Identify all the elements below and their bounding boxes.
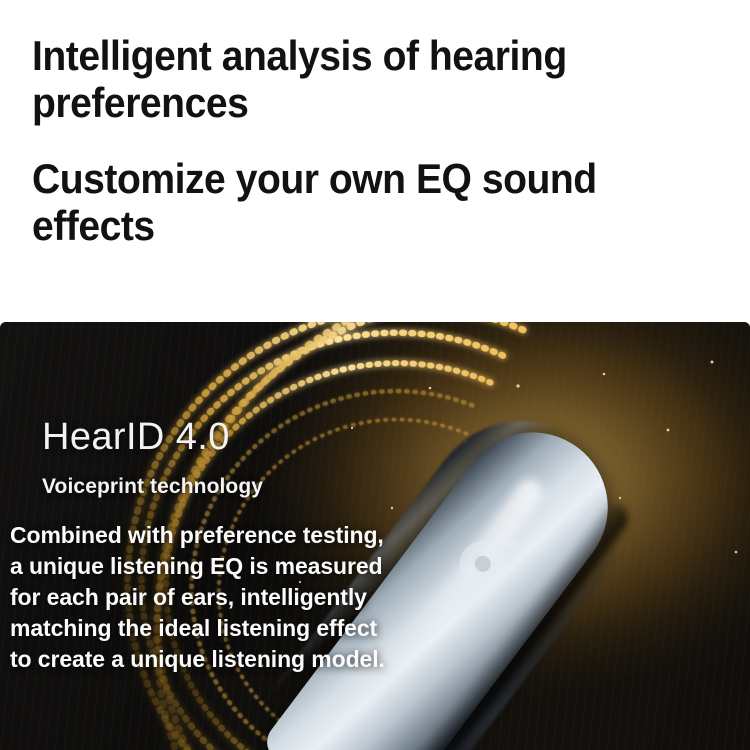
page-title-secondary: Customize your own EQ sound effects xyxy=(32,155,674,249)
page-title-primary: Intelligent analysis of hearing preferen… xyxy=(32,32,674,126)
product-feature-page: Intelligent analysis of hearing preferen… xyxy=(0,0,750,750)
hero-description: Combined with preference testing, a uniq… xyxy=(10,520,440,675)
hero-title: HearID 4.0 xyxy=(42,416,230,459)
hero-subtitle: Voiceprint technology xyxy=(42,475,263,499)
headline-block: Intelligent analysis of hearing preferen… xyxy=(0,0,750,322)
hero-panel: HearID 4.0 Voiceprint technology Combine… xyxy=(0,322,750,750)
